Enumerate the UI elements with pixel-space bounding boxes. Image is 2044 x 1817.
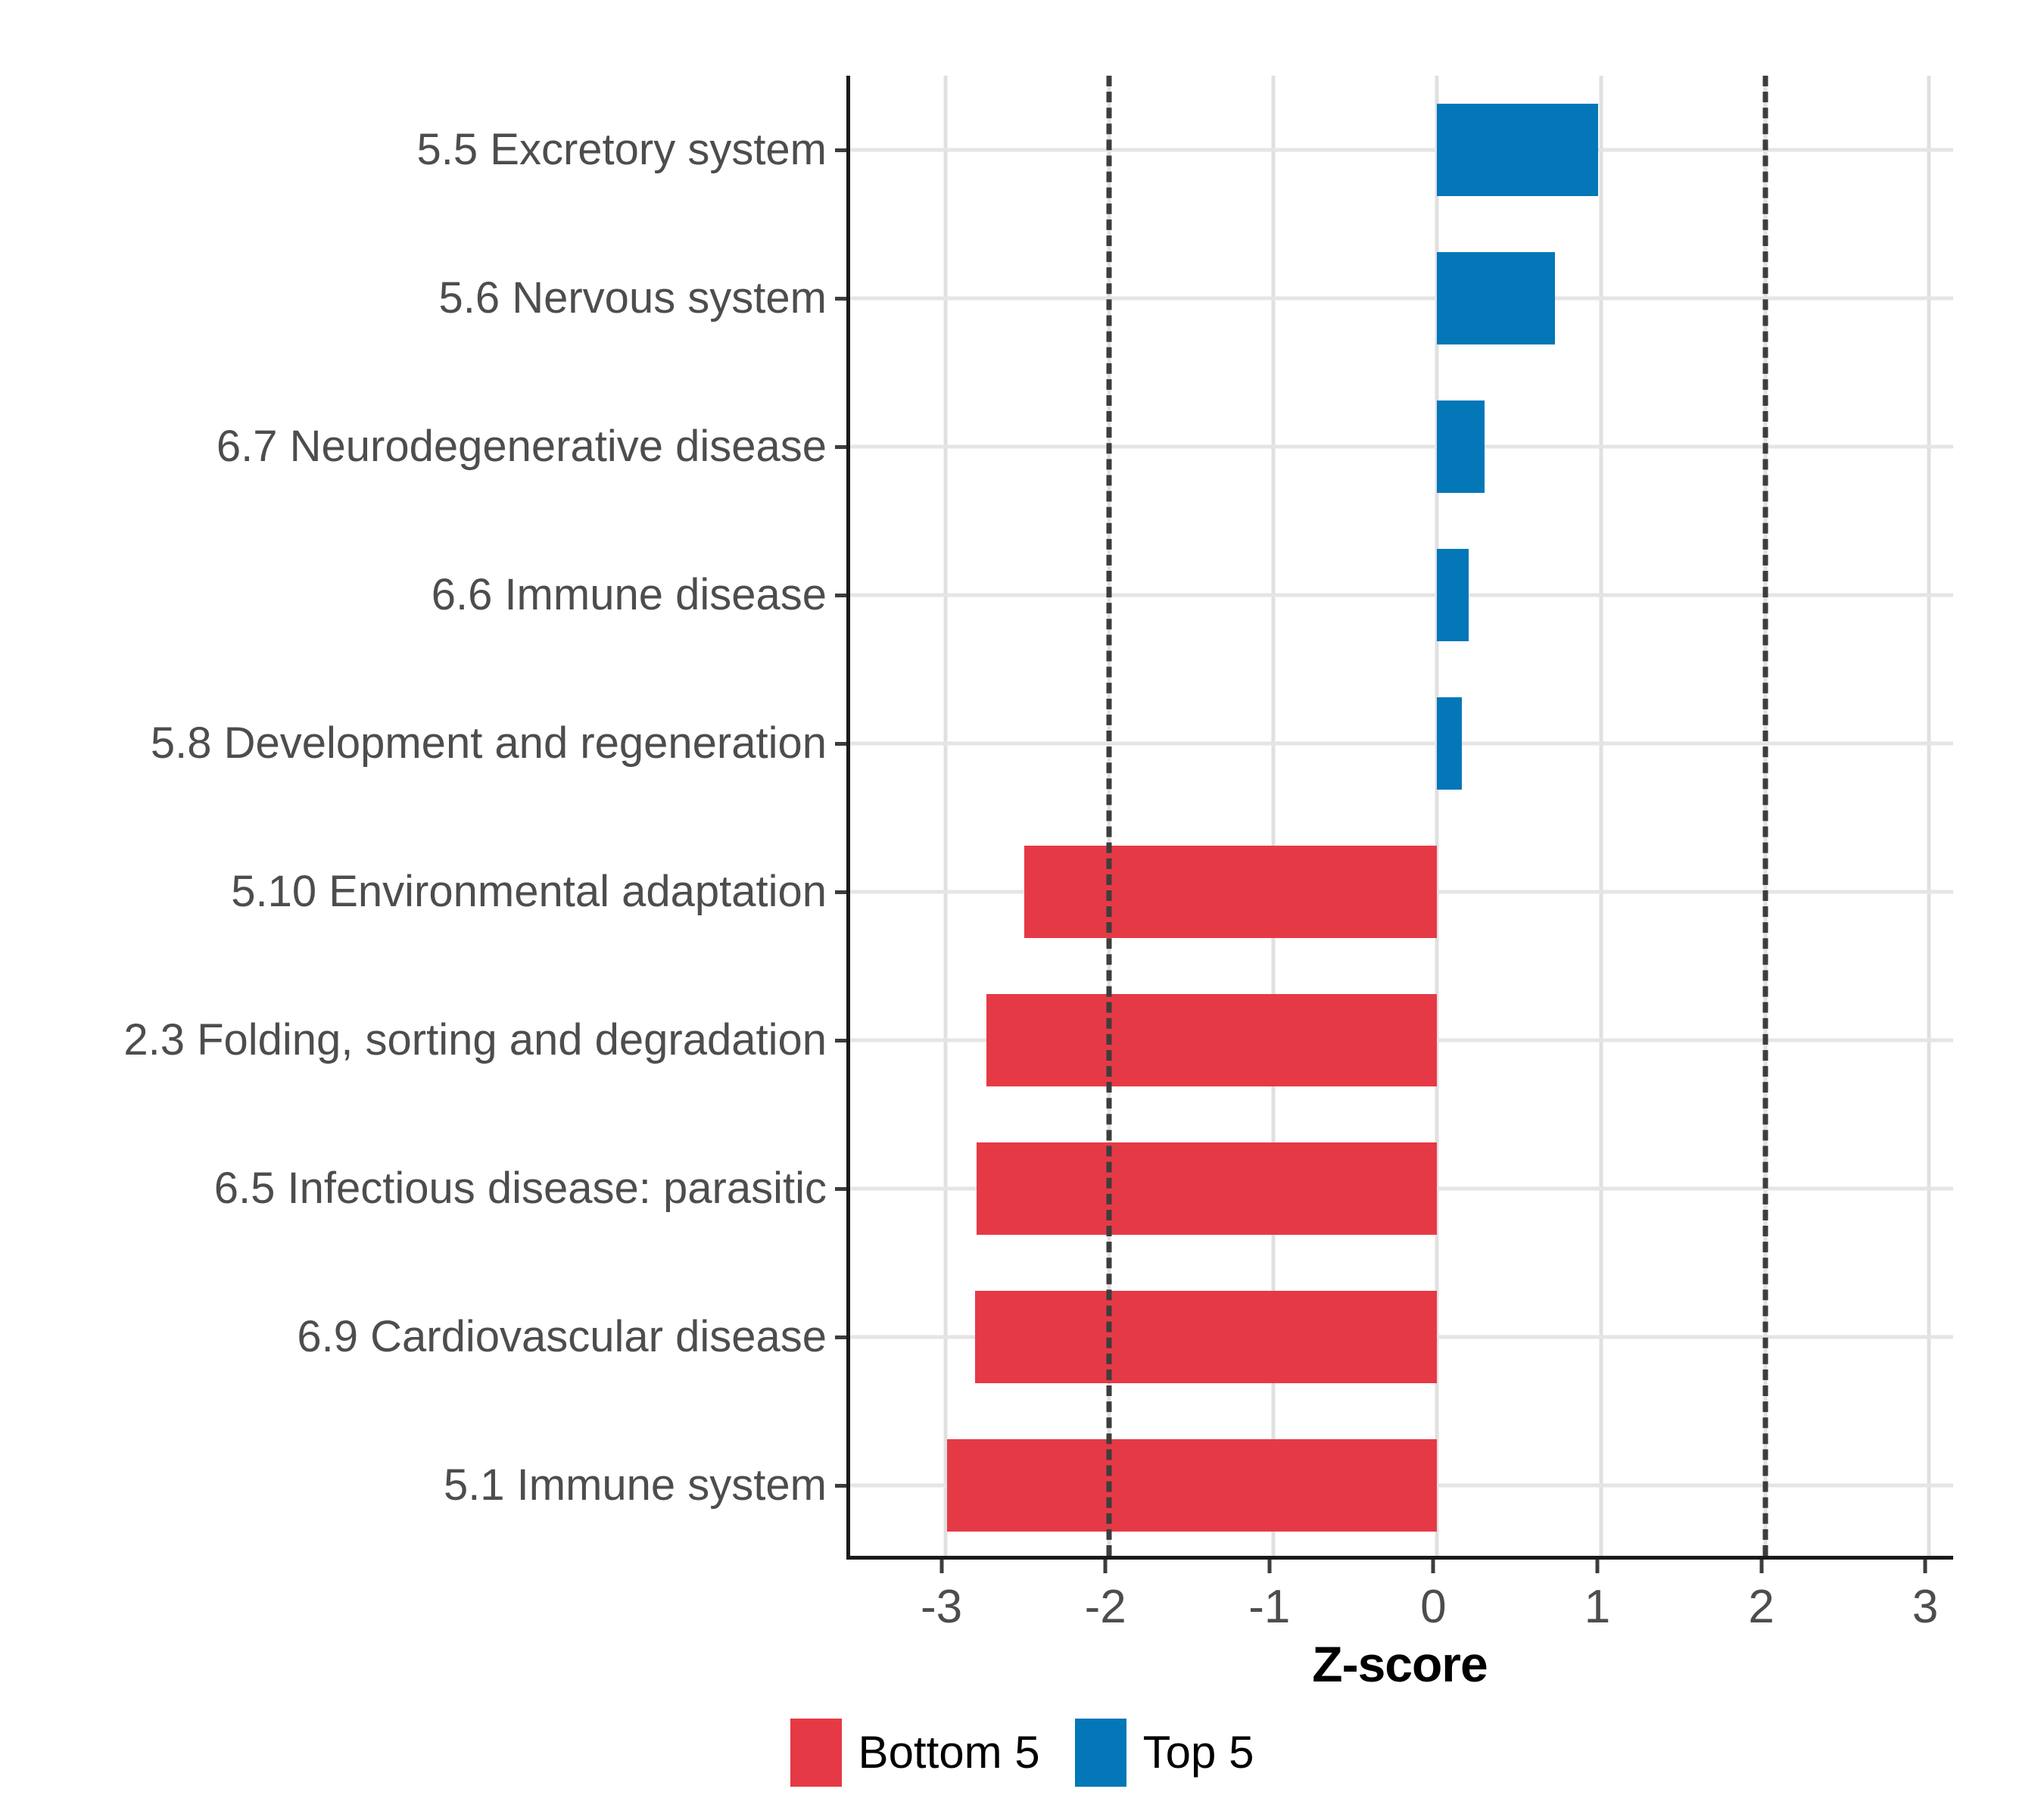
y-axis-tick-mark [835, 1484, 846, 1488]
x-axis-tick-label: 1 [1584, 1584, 1610, 1631]
y-axis-tick-mark [835, 148, 846, 152]
y-axis-tick-mark [835, 594, 846, 597]
x-axis-tick-label: 3 [1912, 1584, 1938, 1631]
y-axis-tick-mark [835, 1335, 846, 1339]
y-axis-tick-label: 6.9 Cardiovascular disease [297, 1315, 827, 1359]
bar [1437, 697, 1461, 790]
y-axis-tick-label: 5.8 Development and regeneration [151, 722, 827, 765]
y-axis-tick-mark [835, 297, 846, 301]
x-axis-title: Z-score [846, 1635, 1953, 1693]
bar [977, 1142, 1438, 1235]
y-axis-tick-mark [835, 445, 846, 449]
y-axis-tick-label: 2.3 Folding, sorting and degradation [123, 1018, 827, 1062]
reference-line [1107, 76, 1112, 1556]
legend-swatch [790, 1719, 842, 1787]
x-axis-tick-mark [1759, 1560, 1763, 1573]
legend-label: Top 5 [1143, 1730, 1254, 1775]
gridline-horizontal [850, 594, 1953, 597]
gridline-horizontal [850, 148, 1953, 152]
x-axis-tick-label: -3 [921, 1584, 962, 1631]
bar [975, 1291, 1438, 1383]
bar [947, 1439, 1438, 1532]
chart-legend: Bottom 5Top 5 [0, 1719, 2044, 1787]
bar [1437, 104, 1597, 196]
x-axis-tick-label: 0 [1420, 1584, 1446, 1631]
x-axis-tick-label: -1 [1248, 1584, 1290, 1631]
x-axis-tick-mark [1432, 1560, 1435, 1573]
y-axis-tick-label: 5.6 Nervous system [438, 276, 827, 320]
legend-item[interactable]: Top 5 [1075, 1719, 1254, 1787]
legend-swatch [1075, 1719, 1126, 1787]
y-axis-tick-label: 6.6 Immune disease [432, 573, 827, 617]
x-axis-tick-label: 2 [1748, 1584, 1774, 1631]
y-axis-tick-label: 6.7 Neurodegenerative disease [217, 425, 827, 469]
y-axis-tick-mark [835, 1039, 846, 1043]
gridline-horizontal [850, 297, 1953, 301]
plot-panel [846, 76, 1953, 1560]
legend-label: Bottom 5 [858, 1730, 1040, 1775]
y-axis-tick-label: 5.1 Immune system [444, 1463, 827, 1507]
x-axis-tick-mark [939, 1560, 943, 1573]
y-axis-tick-label: 5.10 Environmental adaptation [231, 870, 827, 914]
y-axis-tick-label: 6.5 Infectious disease: parasitic [214, 1167, 827, 1211]
plot-area [850, 76, 1953, 1556]
bar [1437, 400, 1485, 493]
legend-item[interactable]: Bottom 5 [790, 1719, 1040, 1787]
y-axis-tick-label: 5.5 Excretory system [417, 128, 827, 172]
y-axis-tick-mark [835, 742, 846, 746]
gridline-horizontal [850, 742, 1953, 746]
bar [1437, 549, 1468, 641]
y-axis-tick-mark [835, 890, 846, 894]
reference-line [1762, 76, 1768, 1556]
bar [1024, 846, 1438, 938]
x-axis-tick-mark [1924, 1560, 1927, 1573]
x-axis-tick-mark [1595, 1560, 1599, 1573]
gridline-horizontal [850, 445, 1953, 449]
chart-figure: 5.5 Excretory system5.6 Nervous system6.… [0, 0, 2044, 1817]
x-axis-tick-mark [1267, 1560, 1271, 1573]
bar [1437, 252, 1555, 344]
y-axis-tick-mark [835, 1187, 846, 1191]
bar [986, 994, 1438, 1086]
x-axis-tick-label: -2 [1085, 1584, 1126, 1631]
x-axis-tick-mark [1104, 1560, 1108, 1573]
